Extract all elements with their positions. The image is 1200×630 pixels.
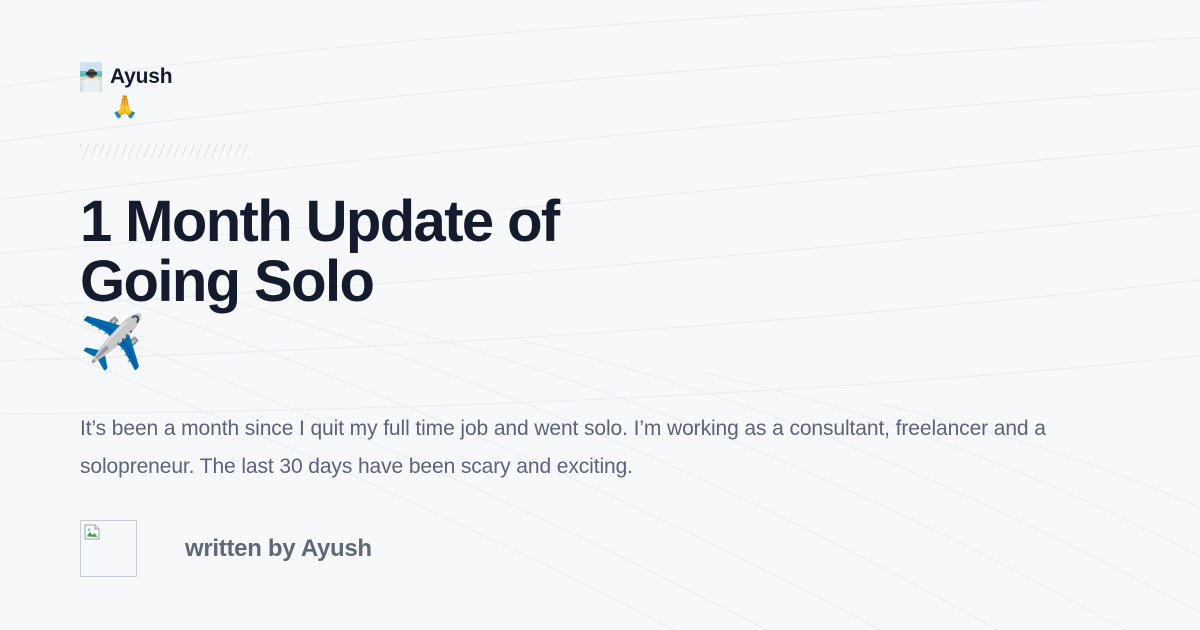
broken-image-placeholder xyxy=(80,520,137,577)
post-title-text: 1 Month Update of Going Solo xyxy=(80,189,559,314)
author-header: Ayush 🙏 xyxy=(80,62,510,122)
avatar-sunglasses xyxy=(86,72,97,75)
broken-image-icon xyxy=(84,524,100,540)
hatch-divider xyxy=(80,144,250,158)
social-card: Ayush 🙏 1 Month Update of Going Solo ✈️ … xyxy=(0,0,1200,630)
airplane-icon: ✈️ xyxy=(80,312,720,374)
page-title: 1 Month Update of Going Solo ✈️ xyxy=(80,192,720,374)
byline-text: written by Ayush xyxy=(185,535,372,563)
praying-hands-icon: 🙏 xyxy=(111,92,510,122)
avatar xyxy=(80,62,102,92)
author-name: Ayush xyxy=(110,65,172,88)
byline: written by Ayush xyxy=(80,520,1120,577)
avatar-torso xyxy=(83,79,100,92)
post-description: It’s been a month since I quit my full t… xyxy=(80,410,1090,486)
